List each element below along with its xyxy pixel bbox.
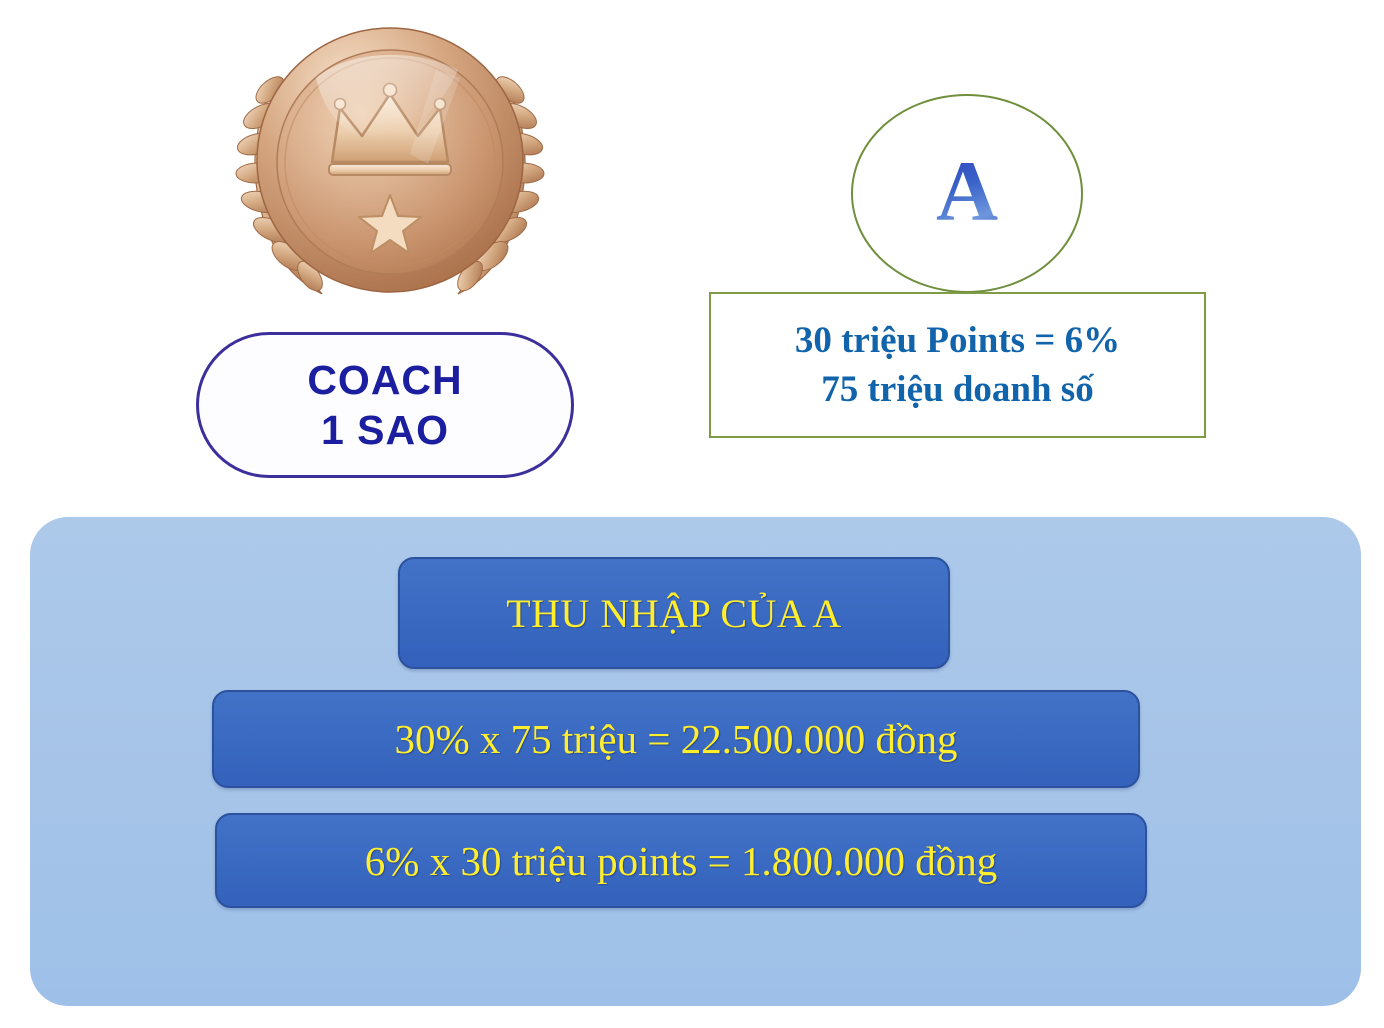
person-letter-label: A [936,148,998,240]
medal-emblem [214,12,566,312]
income-row-2-label: 6% x 30 triệu points = 1.800.000 đồng [365,837,997,885]
income-row-2: 6% x 30 triệu points = 1.800.000 đồng [215,813,1147,908]
coach-rank-pill: COACH 1 SAO [196,332,574,478]
income-title-bar: THU NHẬP CỦA A [398,557,950,669]
income-row-1: 30% x 75 triệu = 22.500.000 đồng [212,690,1140,788]
stats-line-points: 30 triệu Points = 6% [795,316,1120,365]
income-panel: THU NHẬP CỦA A 30% x 75 triệu = 22.500.0… [30,517,1361,1006]
coach-rank-line-2: 1 SAO [321,405,449,455]
coach-rank-line-1: COACH [307,355,462,405]
income-row-1-label: 30% x 75 triệu = 22.500.000 đồng [395,715,958,763]
person-circle: A [851,94,1083,293]
income-title-label: THU NHẬP CỦA A [506,590,842,637]
stats-box: 30 triệu Points = 6% 75 triệu doanh số [709,292,1206,438]
stats-line-revenue: 75 triệu doanh số [821,365,1093,414]
bronze-medal-laurel-crown-star-icon [214,12,566,312]
